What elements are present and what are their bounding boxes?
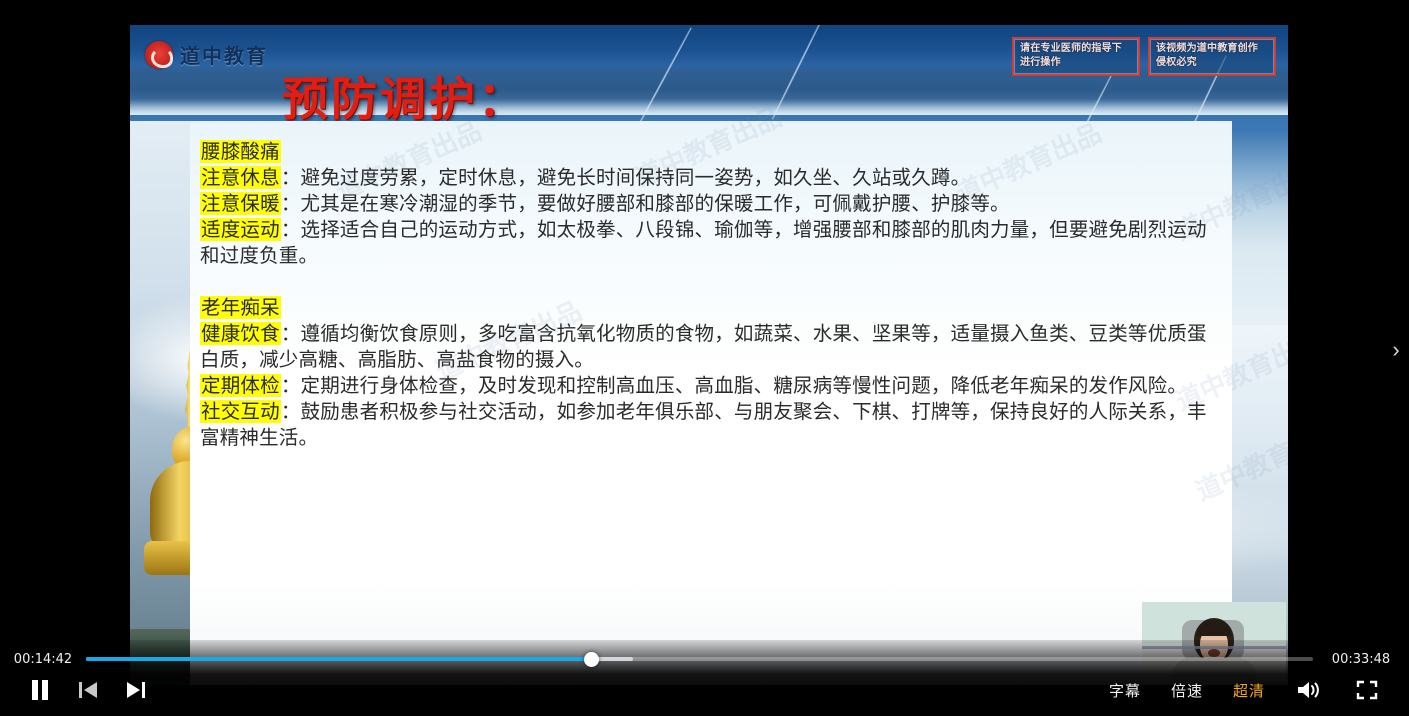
content-item: 社交互动：鼓励患者积极参与社交活动，如参加老年俱乐部、与朋友聚会、下棋、打牌等，… [200,399,1222,451]
control-row: 字幕 倍速 超清 [0,670,1409,710]
fullscreen-icon [1355,679,1379,701]
next-episode-icon [125,680,147,700]
content-item: 健康饮食：遵循均衡饮食原则，多吃富含抗氧化物质的食物，如蔬菜、水果、坚果等，适量… [200,321,1222,373]
item-text: ：遵循均衡饮食原则，多吃富含抗氧化物质的食物，如蔬菜、水果、坚果等，适量摄入鱼类… [200,322,1207,371]
brand-logo-text: 道中教育 [180,40,268,69]
fullscreen-button[interactable] [1353,676,1381,704]
previous-episode-icon [77,680,99,700]
previous-episode-button[interactable] [74,676,102,704]
notice-box-copyright: 该视频为道中教育创作 侵权必究 [1148,37,1276,76]
slide-content-panel: 道中教育出品 道中教育出品 道中教育出品 道中教育出品 道中教育出品 道中教育出… [190,121,1232,685]
current-time-label: 00:14:42 [0,652,86,667]
volume-button[interactable] [1295,676,1323,704]
light-streak-decor [772,25,822,120]
notice-line: 进行操作 [1020,56,1132,70]
section-heading: 老年痴呆 [200,295,1222,321]
quality-button[interactable]: 超清 [1233,680,1265,701]
section-heading-text: 老年痴呆 [200,296,281,319]
notice-box-group: 请在专业医师的指导下 进行操作 该视频为道中教育创作 侵权必究 [1012,37,1276,76]
item-label: 注意保暖 [200,192,281,215]
light-streak-decor [634,27,692,134]
video-player-controls: 00:14:42 00:33:48 [0,640,1409,716]
volume-icon [1296,679,1322,701]
content-section-dementia: 老年痴呆 健康饮食：遵循均衡饮食原则，多吃富含抗氧化物质的食物，如蔬菜、水果、坚… [200,295,1222,451]
item-text: ：尤其是在寒冷潮湿的季节，要做好腰部和膝部的保暖工作，可佩戴护腰、护膝等。 [281,192,1010,215]
control-row-right: 字幕 倍速 超清 [1109,676,1409,704]
item-label: 注意休息 [200,166,281,189]
control-row-left [0,676,150,704]
video-slide-area[interactable]: 道中教育 预防调护： 请在专业医师的指导下 进行操作 该视频为道中教育创作 侵权… [130,25,1288,685]
progress-bar[interactable] [86,657,1313,661]
slide-body-text: 腰膝酸痛 注意休息：避免过度劳累，定时休息，避免长时间保持同一姿势，如久坐、久站… [200,139,1222,451]
playback-speed-button[interactable]: 倍速 [1171,680,1203,701]
pause-icon [30,679,50,701]
item-label: 适度运动 [200,218,281,241]
section-spacer [200,269,1222,295]
item-text: ：选择适合自己的运动方式，如太极拳、八段锦、瑜伽等，增强腰部和膝部的肌肉力量，但… [200,218,1207,267]
progress-handle[interactable] [584,652,599,667]
section-heading-text: 腰膝酸痛 [200,140,281,163]
item-label: 定期体检 [200,374,281,397]
subtitle-button[interactable]: 字幕 [1109,680,1141,701]
content-item: 适度运动：选择适合自己的运动方式，如太极拳、八段锦、瑜伽等，增强腰部和膝部的肌肉… [200,217,1222,269]
item-text: ：鼓励患者积极参与社交活动，如参加老年俱乐部、与朋友聚会、下棋、打牌等，保持良好… [200,400,1207,449]
slide-title: 预防调护： [282,63,527,129]
pause-button[interactable] [26,676,54,704]
item-label: 健康饮食 [200,322,281,345]
progress-row: 00:14:42 00:33:48 [0,648,1409,670]
item-text: ：避免过度劳累，定时休息，避免长时间保持同一姿势，如久坐、久站或久蹲。 [281,166,971,189]
content-item: 注意保暖：尤其是在寒冷潮湿的季节，要做好腰部和膝部的保暖工作，可佩戴护腰、护膝等… [200,191,1222,217]
notice-box-medical-guidance: 请在专业医师的指导下 进行操作 [1012,37,1140,76]
next-episode-button[interactable] [122,676,150,704]
notice-line: 请在专业医师的指导下 [1020,42,1132,56]
item-label: 社交互动 [200,400,281,423]
section-heading: 腰膝酸痛 [200,139,1222,165]
content-item: 定期体检：定期进行身体检查，及时发现和控制高血压、高血脂、糖尿病等慢性问题，降低… [200,373,1222,399]
swirl-logo-icon [145,41,173,69]
notice-line: 侵权必究 [1156,56,1268,70]
content-section-lumbar-knee-pain: 腰膝酸痛 注意休息：避免过度劳累，定时休息，避免长时间保持同一姿势，如久坐、久站… [200,139,1222,269]
chevron-right-icon: › [1392,337,1399,363]
played-bar [86,657,592,661]
notice-line: 该视频为道中教育创作 [1156,42,1268,56]
video-player-page: 道中教育 预防调护： 请在专业医师的指导下 进行操作 该视频为道中教育创作 侵权… [0,0,1409,716]
item-text: ：定期进行身体检查，及时发现和控制高血压、高血脂、糖尿病等慢性问题，降低老年痴呆… [281,374,1187,397]
brand-logo: 道中教育 [145,40,268,69]
total-time-label: 00:33:48 [1313,652,1409,667]
content-item: 注意休息：避免过度劳累，定时休息，避免长时间保持同一姿势，如久坐、久站或久蹲。 [200,165,1222,191]
side-panel-expand-button[interactable]: › [1387,320,1405,380]
